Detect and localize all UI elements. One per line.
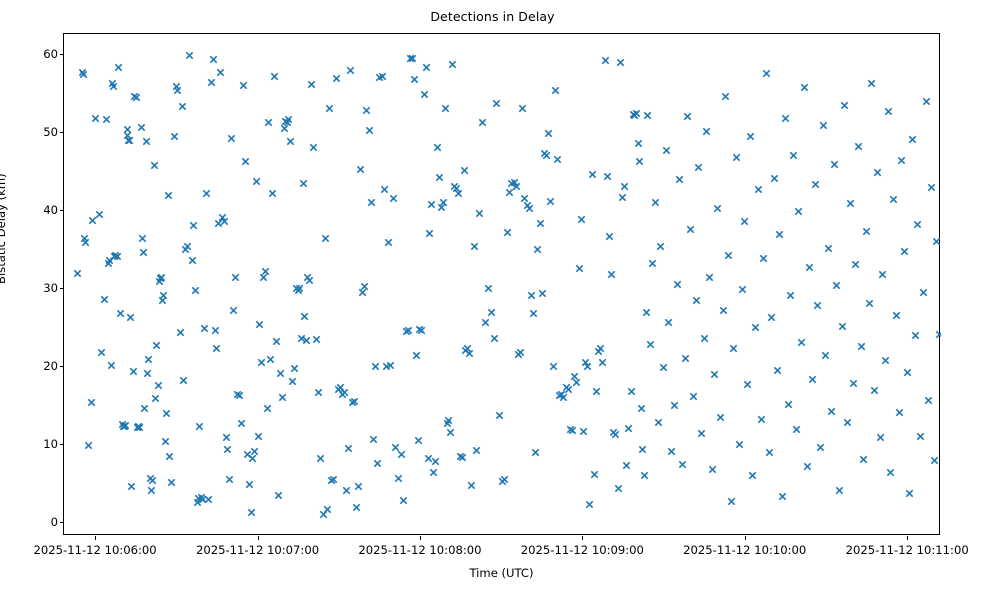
scatter-point [198,495,207,504]
scatter-point [338,390,347,399]
scatter-point [127,482,136,491]
scatter-point [408,54,417,63]
scatter-point [108,79,117,88]
scatter-point [472,446,481,455]
scatter-point [533,245,542,254]
scatter-point [540,149,549,158]
scatter-point [773,366,782,375]
scatter-point [751,323,760,332]
scatter-point [155,277,164,286]
x-axis-label: Time (UTC) [63,566,940,580]
scatter-point [444,416,453,425]
scatter-point [603,172,612,181]
x-tick-label: 2025-11-12 10:09:00 [521,543,644,557]
scatter-point [402,327,411,336]
x-tick-label: 2025-11-12 10:10:00 [683,543,806,557]
scatter-point [209,55,218,64]
scatter-point [143,369,152,378]
scatter-point [876,433,885,442]
scatter-point [605,232,614,241]
scatter-point [121,421,130,430]
scatter-point [719,306,728,315]
scatter-point [107,361,116,370]
scatter-point [531,448,540,457]
scatter-point [84,441,93,450]
scatter-point [724,251,733,260]
scatter-point [406,54,415,63]
scatter-point [624,424,633,433]
scatter-point [819,121,828,130]
scatter-point [139,248,148,257]
scatter-point [365,126,374,135]
scatter-point [549,362,558,371]
scatter-point [307,80,316,89]
y-axis-label: Bistatic Delay (km) [0,173,8,284]
scatter-point [538,289,547,298]
scatter-point [367,198,376,207]
scatter-point [935,330,941,339]
scatter-point [732,153,741,162]
scatter-point [340,388,349,397]
scatter-point [294,286,303,295]
scatter-point [314,388,323,397]
scatter-point [183,242,192,251]
scatter-point [895,408,904,417]
scatter-point [478,118,487,127]
y-tick-label: 30 [43,281,58,295]
scatter-point [222,433,231,442]
scatter-point [264,118,273,127]
scatter-point [458,453,467,462]
scatter-point [179,376,188,385]
chart-title: Detections in Delay [0,9,985,24]
scatter-point [710,370,719,379]
scatter-point [646,340,655,349]
scatter-point [664,318,673,327]
scatter-point [689,392,698,401]
scatter-point [114,63,123,72]
scatter-points-layer [64,34,941,536]
scatter-point [229,306,238,315]
scatter-point [630,111,639,120]
scatter-point [512,182,521,191]
scatter-point [797,338,806,347]
scatter-point [716,413,725,422]
scatter-point [463,344,472,353]
scatter-point [422,63,431,72]
scatter-point [274,491,283,500]
scatter-point [551,86,560,95]
scatter-point [892,311,901,320]
scatter-point [566,425,575,434]
scatter-point [137,123,146,132]
scatter-point [757,415,766,424]
scatter-point [607,270,616,279]
scatter-point [794,207,803,216]
scatter-point [302,336,311,345]
x-tick-label: 2025-11-12 10:08:00 [358,543,481,557]
scatter-point [903,368,912,377]
scatter-point [452,184,461,193]
scatter-point [382,362,391,371]
scatter-point [109,82,118,91]
scatter-point [185,51,194,60]
scatter-point [439,198,448,207]
scatter-point [546,197,555,206]
scatter-point [218,213,227,222]
scatter-point [270,72,279,81]
scatter-point [635,157,644,166]
scatter-point [188,256,197,265]
scatter-point [292,284,301,293]
scatter-point [305,276,314,285]
scatter-point [316,454,325,463]
scatter-point [332,74,341,83]
scatter-point [507,179,516,188]
scatter-point [640,471,649,480]
scatter-point [124,136,133,145]
scatter-point [518,104,527,113]
scatter-point [700,334,709,343]
scatter-point [369,435,378,444]
scatter-point [536,219,545,228]
scatter-point [342,486,351,495]
y-tick-label: 0 [51,515,58,529]
scatter-point [170,132,179,141]
scatter-point [197,493,206,502]
scatter-point [564,385,573,394]
scatter-point [87,398,96,407]
scatter-point [570,372,579,381]
scatter-point [248,454,257,463]
scatter-point [119,422,128,431]
scatter-point [95,210,104,219]
scatter-point [667,447,676,456]
scatter-point [559,393,568,402]
scatter-point [443,419,452,428]
scatter-point [544,129,553,138]
scatter-point [247,508,256,517]
y-tick-label: 10 [43,437,58,451]
scatter-point [91,114,100,123]
scatter-point [865,299,874,308]
scatter-point [220,217,229,226]
scatter-point [266,355,275,364]
scatter-point [932,237,941,246]
scatter-point [832,281,841,290]
scatter-point [130,92,139,101]
scatter-point [227,134,236,143]
scatter-point [412,351,421,360]
scatter-point [216,68,225,77]
scatter-point [662,146,671,155]
scatter-point [781,114,790,123]
scatter-point [450,182,459,191]
scatter-point [241,157,250,166]
scatter-point [492,99,501,108]
scatter-point [78,68,87,77]
scatter-point [431,457,440,466]
scatter-point [336,383,345,392]
scatter-point [189,221,198,230]
scatter-point [754,185,763,194]
scatter-point [80,234,89,243]
scatter-point [321,234,330,243]
scatter-point [461,346,470,355]
scatter-point [284,115,293,124]
scatter-point [88,216,97,225]
scatter-point [590,470,599,479]
scatter-point [827,407,836,416]
scatter-point [708,465,717,474]
scatter-point [152,341,161,350]
scatter-point [889,195,898,204]
y-tick-label: 20 [43,359,58,373]
scatter-point [873,168,882,177]
scatter-point [212,344,221,353]
scatter-point [159,291,168,300]
scatter-point [261,267,270,276]
scatter-point [572,378,581,387]
scatter-point [327,476,336,485]
scatter-point [346,66,355,75]
scatter-point [743,380,752,389]
scatter-point [104,259,113,268]
scatter-point [897,156,906,165]
scatter-point [884,107,893,116]
scatter-point [911,331,920,340]
scatter-point [598,358,607,367]
scatter-point [255,320,264,329]
scatter-point [319,510,328,519]
scatter-point [713,204,722,213]
scatter-point [172,82,181,91]
scatter-point [808,375,817,384]
scatter-point [399,496,408,505]
scatter-point [73,269,82,278]
scatter-point [729,344,738,353]
scatter-point [204,495,213,504]
scatter-point [425,229,434,238]
scatter-point [878,270,887,279]
scatter-point [295,284,304,293]
scatter-point [857,342,866,351]
scatter-point [775,230,784,239]
scatter-point [800,83,809,92]
scatter-point [158,296,167,305]
scatter-point [420,90,429,99]
scatter-point [429,468,438,477]
scatter-point [490,334,499,343]
scatter-point [173,86,182,95]
scatter-point [435,173,444,182]
scatter-point [214,219,223,228]
scatter-point [792,425,801,434]
scatter-point [487,308,496,317]
scatter-point [821,351,830,360]
scatter-point [245,480,254,489]
scatter-point [467,481,476,490]
scatter-point [656,242,665,251]
scatter-point [147,486,156,495]
x-tick-label: 2025-11-12 10:07:00 [196,543,319,557]
scatter-point [144,355,153,364]
scatter-point [813,301,822,310]
scatter-point [805,263,814,272]
scatter-point [637,404,646,413]
scatter-point [268,189,277,198]
scatter-point [581,358,590,367]
scatter-point [702,127,711,136]
scatter-point [746,132,755,141]
scatter-point [202,189,211,198]
scatter-point [514,350,523,359]
scatter-point [694,163,703,172]
scatter-point [460,166,469,175]
scatter-point [557,390,566,399]
scatter-point [433,143,442,152]
scatter-point [583,362,592,371]
scatter-point [427,200,436,209]
scatter-point [670,401,679,410]
scatter-point [638,445,647,454]
scatter-point [651,198,660,207]
scatter-point [611,430,620,439]
scatter-point [257,358,266,367]
scatter-point [325,104,334,113]
scatter-point [126,313,135,322]
scatter-point [765,448,774,457]
scatter-point [391,443,400,452]
scatter-point [503,228,512,237]
scatter-point [235,391,244,400]
scatter-point [386,361,395,370]
scatter-point [659,363,668,372]
scatter-point [555,391,564,400]
scatter-point [908,135,917,144]
scatter-point [738,285,747,294]
scatter-point [195,422,204,431]
scatter-point [592,387,601,396]
scatter-point [575,264,584,273]
scatter-point [176,328,185,337]
scatter-point [849,379,858,388]
scatter-point [233,390,242,399]
scatter-point [288,377,297,386]
scatter-point [375,73,384,82]
scatter-point [523,201,532,210]
scatter-point [350,397,359,406]
scatter-point [727,497,736,506]
scatter-point [259,273,268,282]
scatter-point [312,335,321,344]
scatter-point [123,131,132,140]
scatter-point [721,92,730,101]
scatter-point [683,112,692,121]
scatter-point [905,489,914,498]
scatter-point [329,475,338,484]
scatter-point [498,477,507,486]
scatter-point [415,325,424,334]
scatter-point [165,452,174,461]
scatter-point [378,72,387,81]
scatter-point [862,227,871,236]
scatter-point [577,215,586,224]
x-tick-label: 2025-11-12 10:11:00 [846,543,969,557]
scatter-point [309,143,318,152]
scatter-point [735,440,744,449]
scatter-point [838,322,847,331]
scatter-point [194,494,203,503]
scatter-point [344,444,353,453]
scatter-point [164,191,173,200]
scatter-point [138,234,147,243]
scatter-point [648,259,657,268]
scatter-point [272,337,281,346]
y-tick-label: 40 [43,203,58,217]
scatter-point [129,367,138,376]
scatter-point [448,60,457,69]
scatter-point [886,468,895,477]
scatter-point [916,432,925,441]
scatter-point [568,426,577,435]
figure-canvas: Detections in Delay Bistatic Delay (km) … [0,0,985,590]
scatter-point [151,394,160,403]
scatter-point [930,456,939,465]
scatter-point [759,254,768,263]
scatter-point [133,423,142,432]
scatter-point [417,326,426,335]
scatter-point [276,369,285,378]
scatter-point [358,288,367,297]
scatter-point [642,308,651,317]
scatter-point [562,383,571,392]
scatter-point [167,478,176,487]
scatter-point [854,142,863,151]
scatter-point [692,296,701,305]
scatter-point [81,238,90,247]
scatter-point [394,474,403,483]
scatter-point [110,252,119,261]
scatter-point [913,220,922,229]
scatter-point [851,260,860,269]
scatter-point [280,124,289,133]
scatter-point [614,484,623,493]
scatter-point [250,447,259,456]
scatter-point [500,475,509,484]
scatter-point [362,106,371,115]
scatter-point [97,348,106,357]
scatter-point [348,398,357,407]
scatter-point [290,364,299,373]
scatter-point [252,177,261,186]
scatter-point [237,419,246,428]
scatter-point [525,204,534,213]
scatter-point [100,295,109,304]
scatter-point [465,349,474,358]
scatter-point [225,475,234,484]
scatter-point [211,326,220,335]
scatter-point [380,185,389,194]
scatter-point [632,109,641,118]
scatter-point [161,437,170,446]
scatter-point [553,155,562,164]
scatter-point [601,56,610,65]
scatter-point [456,452,465,461]
scatter-point [118,420,127,429]
scatter-point [770,174,779,183]
scatter-point [816,443,825,452]
